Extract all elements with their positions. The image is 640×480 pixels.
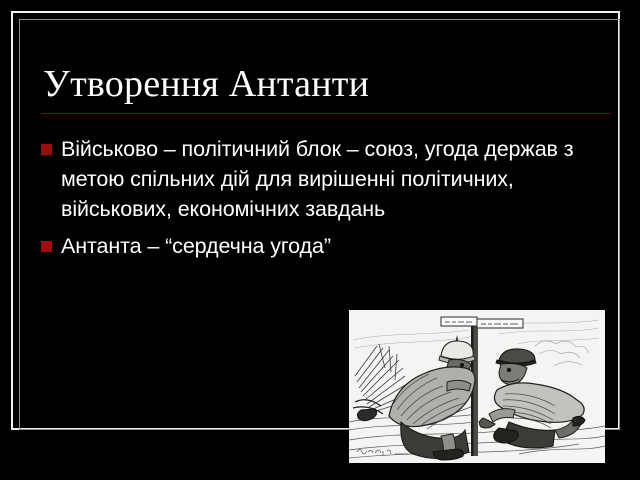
title-divider-rule <box>41 113 610 114</box>
slide-canvas: Утворення Антанти Військово – політичний… <box>0 0 640 480</box>
bullet-list: Військово – політичний блок – союз, угод… <box>41 134 593 268</box>
political-cartoon-image <box>349 310 605 463</box>
square-bullet-icon <box>41 241 52 252</box>
list-item: Антанта – “сердечна угода” <box>41 231 593 261</box>
page-title: Утворення Антанти <box>43 62 603 106</box>
list-item: Військово – політичний блок – союз, угод… <box>41 134 593 224</box>
engraving-illustration <box>349 310 605 463</box>
square-bullet-icon <box>41 144 52 155</box>
list-item-text: Військово – політичний блок – союз, угод… <box>61 134 593 224</box>
list-item-text: Антанта – “сердечна угода” <box>61 231 593 261</box>
